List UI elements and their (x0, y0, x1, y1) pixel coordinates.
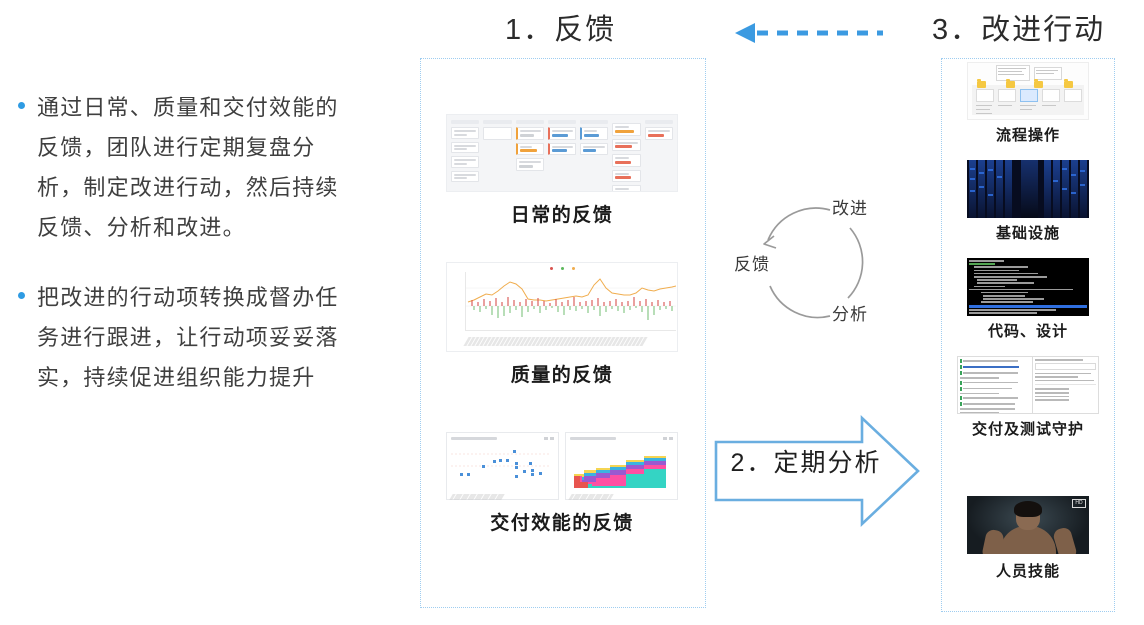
slide-canvas: 通过日常、质量和交付效能的反馈，团队进行定期复盘分析，制定改进行动，然后持续反馈… (0, 0, 1144, 625)
cycle-label-feedback: 反馈 (734, 250, 770, 275)
bullet-text: 把改进的行动项转换成督办任务进行跟进，让行动项妥妥落实，持续促进组织能力提升 (37, 278, 342, 398)
bullet-text: 通过日常、质量和交付效能的反馈，团队进行定期复盘分析，制定改进行动，然后持续反馈… (37, 88, 342, 248)
cumulative-flow-pane (565, 432, 678, 500)
person-photo-thumbnail: HD (967, 496, 1089, 554)
test-document-thumbnail (957, 356, 1099, 414)
bullet-dot-icon (18, 102, 25, 109)
dashed-arrow-left-icon (735, 20, 885, 46)
bullet-item: 把改进的行动项转换成督办任务进行跟进，让行动项妥妥落实，持续促进组织能力提升 (0, 278, 380, 398)
cumulative-flow-diagram (570, 444, 670, 488)
scatter-chart-pane (446, 432, 559, 500)
kanban-board-thumbnail (446, 114, 678, 192)
server-room-thumbnail (967, 160, 1089, 218)
terminal-thumbnail (967, 258, 1089, 316)
scatter-plot (451, 444, 551, 488)
action-item-caption: 基础设施 (967, 222, 1089, 243)
bullet-dot-icon (18, 292, 25, 299)
quality-chart-thumbnail (446, 262, 678, 352)
heading-improve-actions: 3．改进行动 (932, 6, 1105, 48)
action-item-process: 流程操作 (967, 62, 1089, 145)
delivery-charts-thumbnail (446, 432, 678, 500)
action-item-people-skills: HD 人员技能 (967, 496, 1089, 581)
hd-badge: HD (1072, 499, 1086, 508)
action-item-delivery-test: 交付及测试守护 (957, 356, 1099, 439)
bullet-item: 通过日常、质量和交付效能的反馈，团队进行定期复盘分析，制定改进行动，然后持续反馈… (0, 88, 380, 248)
action-item-infrastructure: 基础设施 (967, 160, 1089, 243)
card-quality-feedback: 质量的反馈 (446, 262, 678, 387)
periodic-analysis-label: 2．定期分析 (722, 443, 890, 479)
card-caption: 交付效能的反馈 (446, 508, 678, 535)
card-daily-feedback: 日常的反馈 (446, 114, 678, 227)
improvement-cycle-diagram: 改进 反馈 分析 (744, 188, 904, 338)
action-item-code-design: 代码、设计 (967, 258, 1089, 341)
card-caption: 日常的反馈 (446, 200, 678, 227)
quality-trend-plot (465, 272, 676, 331)
card-delivery-feedback: 交付效能的反馈 (446, 432, 678, 535)
process-flowchart-thumbnail (967, 62, 1089, 120)
action-item-caption: 交付及测试守护 (957, 418, 1099, 439)
card-caption: 质量的反馈 (446, 360, 678, 387)
action-item-caption: 代码、设计 (967, 320, 1089, 341)
x-axis-tick-labels (466, 337, 673, 346)
cycle-label-improve: 改进 (832, 194, 868, 219)
chart-legend (451, 267, 673, 270)
action-item-caption: 人员技能 (967, 560, 1089, 581)
action-item-caption: 流程操作 (967, 124, 1089, 145)
left-text-column: 通过日常、质量和交付效能的反馈，团队进行定期复盘分析，制定改进行动，然后持续反馈… (0, 88, 380, 428)
heading-feedback: 1．反馈 (505, 6, 616, 48)
cycle-label-analyze: 分析 (832, 300, 868, 325)
